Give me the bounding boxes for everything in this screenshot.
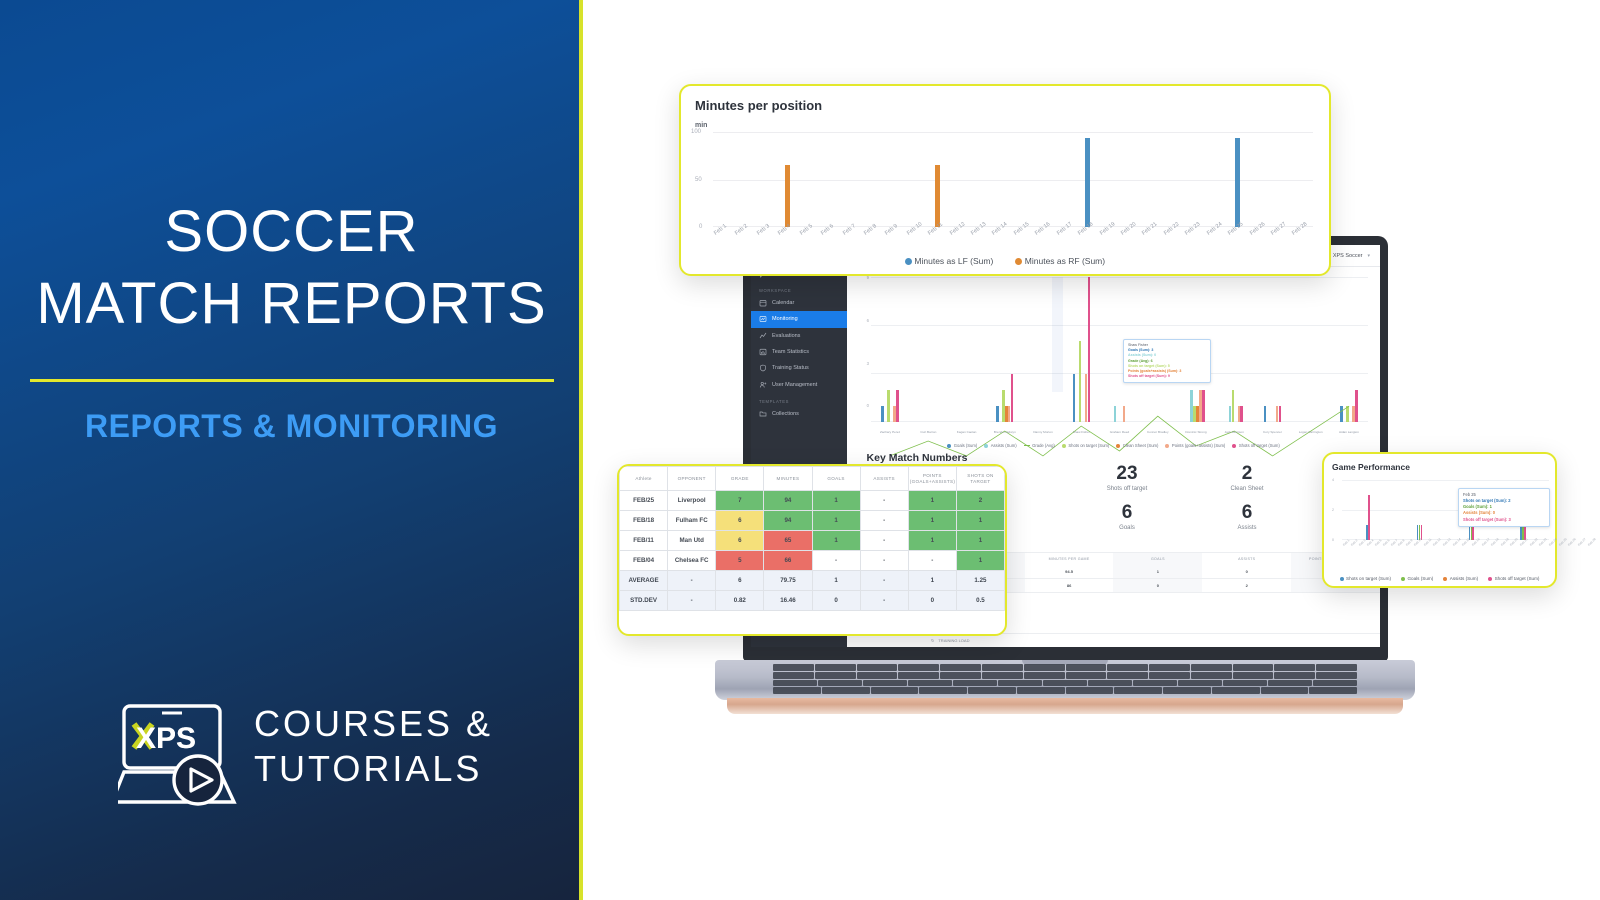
keyboard-key — [998, 680, 1042, 687]
keyboard-key — [1024, 672, 1065, 679]
keyboard-key — [1316, 672, 1357, 679]
player-name-label: Logan Carrington — [1292, 430, 1330, 434]
keyboard-key — [1178, 680, 1222, 687]
laptop-foot — [727, 698, 1403, 714]
player-name-label: Brendon Edwyn — [986, 430, 1024, 434]
minutes-bar — [1085, 138, 1090, 227]
table-cell: 86 — [1025, 579, 1114, 592]
table-cell: 7 — [716, 491, 764, 511]
kpi-label: Shots off target — [1067, 486, 1187, 492]
minutes-bar-group — [1291, 132, 1312, 227]
legend-label: Assists (Sum) — [1450, 576, 1478, 581]
keyboard-key — [1133, 680, 1177, 687]
keyboard-key — [1309, 687, 1357, 694]
kpi-label: Goals — [1067, 525, 1187, 531]
x-tick-label: Feb 24 — [1548, 537, 1558, 547]
kpi-label: Assists — [1187, 525, 1307, 531]
table-cell: AVERAGE — [620, 571, 668, 591]
chart-legend: Goals (Sum)Assists (Sum)Grade (Avg)Shots… — [847, 443, 1380, 448]
keyboard-key — [871, 687, 919, 694]
legend-label: Clean Sheet (Sum) — [1123, 443, 1159, 448]
table-cell: 66 — [764, 551, 812, 571]
keyboard-key — [1107, 664, 1148, 671]
kpi-assists: 6 Assists — [1187, 501, 1307, 531]
gp-bar-group — [1409, 480, 1416, 540]
legend-color-dot — [1024, 445, 1030, 447]
minutes-x-labels: Feb 1Feb 2Feb 3Feb 4Feb 5Feb 6Feb 7Feb 8… — [713, 232, 1313, 238]
keyboard-key — [898, 664, 939, 671]
keyboard-key — [815, 672, 856, 679]
legend-item[interactable]: Points (goals+assists) (Sum) — [1165, 443, 1225, 448]
player-name-label: Danny Morton — [1024, 430, 1062, 434]
legend-color-dot — [1340, 577, 1344, 581]
minutes-bar-group — [1206, 132, 1227, 227]
keyboard-key — [1268, 680, 1312, 687]
keyboard-key — [1191, 672, 1232, 679]
table-cell: - — [860, 531, 908, 551]
legend-label: Points (goals+assists) (Sum) — [1172, 443, 1225, 448]
player-name-label: Aidan Langton — [1330, 430, 1368, 434]
table-cell: FEB/25 — [620, 491, 668, 511]
table-cell: 1 — [812, 571, 860, 591]
table-cell: - — [908, 551, 956, 571]
table-cell: 0 — [1113, 579, 1202, 592]
player-name-label: Dominic Strong — [1177, 430, 1215, 434]
minutes-bar-group — [1249, 132, 1270, 227]
table-cell: - — [860, 591, 908, 611]
laptop-keyboard — [773, 664, 1357, 694]
table-cell: 6 — [716, 511, 764, 531]
kpi-clean-sheet: 2 Clean Sheet — [1187, 462, 1307, 492]
player-name-label: Connor Bradley — [1139, 430, 1177, 434]
table-cell: 65 — [764, 531, 812, 551]
table-row: FEB/11Man Utd6651-11 — [620, 531, 1005, 551]
table-cell: 94.5 — [1025, 565, 1114, 578]
gp-bar-group — [1394, 480, 1401, 540]
minutes-bar-group — [970, 132, 991, 227]
table-cell: 2 — [1202, 579, 1291, 592]
sidebar-item-user-management[interactable]: User Management — [751, 377, 847, 393]
logo-text: COURSES & TUTORIALS — [254, 702, 493, 791]
table-cell: Man Utd — [668, 531, 716, 551]
keyboard-key — [1233, 672, 1274, 679]
player-name-label: Curt Barron — [909, 430, 947, 434]
minutes-bar-group — [777, 132, 798, 227]
keyboard-key — [815, 664, 856, 671]
table-cell: 94 — [764, 491, 812, 511]
card-title: Game Performance — [1332, 462, 1547, 472]
showcase-stage: Teams Messages 3 WORKSPACE — [587, 0, 1600, 900]
keyboard-key — [1114, 687, 1162, 694]
sidebar-label: Team Statistics — [772, 349, 809, 355]
table-cell: - — [860, 491, 908, 511]
gp-bar-group — [1364, 480, 1371, 540]
table-cell: 0.5 — [956, 591, 1004, 611]
keyboard-key — [982, 664, 1023, 671]
minutes-bar-group — [906, 132, 927, 227]
legend-item[interactable]: Shots on target (Sum) — [1340, 576, 1391, 581]
keyboard-key — [982, 672, 1023, 679]
gp-bar-group — [1372, 480, 1379, 540]
keyboard-key — [1163, 687, 1211, 694]
table-cell: Liverpool — [668, 491, 716, 511]
table-cell: 0 — [812, 591, 860, 611]
chart-icon — [759, 348, 767, 356]
gp-bar-group — [1342, 480, 1349, 540]
kpi-row-2: 6 Goals 6 Assists — [1067, 501, 1307, 531]
sidebar-item-training-status[interactable]: Training Status — [751, 360, 847, 376]
gp-bar-group — [1438, 480, 1445, 540]
monitoring-icon — [759, 315, 767, 323]
evaluations-icon — [759, 332, 767, 340]
title-line-2: MATCH REPORTS — [0, 268, 583, 340]
keyboard-key — [1261, 687, 1309, 694]
table-cell: 16.46 — [764, 591, 812, 611]
key-match-numbers-table: AthleteOPPONENTGRADEMINUTESGOALSASSISTSP… — [619, 466, 1005, 611]
legend-color-dot — [1232, 444, 1236, 448]
sidebar-label: Calendar — [772, 300, 794, 306]
keyboard-key — [1043, 680, 1087, 687]
legend-label: Shots on target (Sum) — [1346, 576, 1391, 581]
table-cell: 2 — [956, 491, 1004, 511]
table-row: FEB/25Liverpool7941-12 — [620, 491, 1005, 511]
game-performance-card: Game Performance 4 2 0 Feb 1Feb 2Feb 3Fe… — [1322, 452, 1557, 588]
legend-item[interactable]: Minutes as LF (Sum) — [905, 256, 993, 266]
game-performance-legend: Shots on target (Sum)Goals (Sum)Assists … — [1332, 576, 1547, 581]
legend-item[interactable]: Grade (Avg) — [1024, 443, 1055, 448]
table-row: FEB/04Chelsea FC566---1 — [620, 551, 1005, 571]
shield-icon — [759, 364, 767, 372]
legend-color-dot — [947, 444, 951, 448]
gp-bar-group — [1423, 480, 1430, 540]
table-cell: 1 — [1113, 565, 1202, 578]
minutes-bar-group — [884, 132, 905, 227]
divider-rule — [30, 379, 554, 382]
table-cell: 1.25 — [956, 571, 1004, 591]
minutes-bars — [713, 132, 1313, 227]
table-header-cell: POINTS (GOALS+ASSISTS) — [908, 467, 956, 491]
workspace-name: XPS Soccer — [1333, 253, 1363, 259]
kpi-value: 23 — [1067, 462, 1187, 486]
gp-bar-group — [1386, 480, 1393, 540]
gp-bar-group — [1379, 480, 1386, 540]
sidebar-label: Collections — [772, 411, 799, 417]
player-name-label: Kagan Caolan — [947, 430, 985, 434]
legend-item[interactable]: Shots off target (Sum) — [1488, 576, 1539, 581]
svg-text:XPS: XPS — [136, 722, 196, 755]
legend-color-dot — [1488, 577, 1492, 581]
table-cell: 6 — [716, 571, 764, 591]
title-panel: SOCCER MATCH REPORTS REPORTS & MONITORIN… — [0, 0, 583, 900]
keyboard-key — [1233, 664, 1274, 671]
table-header-cell: ASSISTS — [860, 467, 908, 491]
training-load-label: TRAINING LOAD — [938, 638, 969, 643]
kpi-value: 6 — [1067, 501, 1187, 525]
table-cell: 0 — [908, 591, 956, 611]
keyboard-key — [857, 672, 898, 679]
sidebar-item-team-statistics[interactable]: Team Statistics — [751, 344, 847, 360]
keyboard-key — [1274, 672, 1315, 679]
x-tick-label: Feb 25 — [1558, 537, 1568, 547]
player-name-label: Zachary Perez — [871, 430, 909, 434]
legend-item[interactable]: Shots off target (Sum) — [1232, 443, 1279, 448]
tooltip-row: Shots off target (Sum): 3 — [1463, 517, 1545, 523]
minutes-bar-group — [1077, 132, 1098, 227]
y-axis: 96 30 — [861, 275, 869, 424]
table-cell: 1 — [956, 551, 1004, 571]
gp-bar — [1368, 495, 1370, 540]
y-axis-unit: min — [695, 122, 707, 129]
keyboard-key — [1149, 664, 1190, 671]
legend-color-dot — [1015, 258, 1022, 265]
minutes-bar-group — [1163, 132, 1184, 227]
x-axis-labels: Zachary PerezCurt BarronKagan CaolanBren… — [871, 430, 1368, 434]
keyboard-key — [773, 687, 821, 694]
minutes-bar-group — [1270, 132, 1291, 227]
chart-tooltip: Shaw Fisher Goals (Sum): 3Assists (Sum):… — [1123, 339, 1211, 383]
keyboard-key — [1313, 680, 1357, 687]
table-summary-row: STD.DEV-0.8216.460-00.5 — [620, 591, 1005, 611]
minutes-bar-group — [1013, 132, 1034, 227]
minutes-bar-group — [1099, 132, 1120, 227]
team-performance-chart: 96 30 — [847, 267, 1380, 452]
table-cell: 1 — [956, 511, 1004, 531]
legend-label: Minutes as LF (Sum) — [914, 256, 993, 266]
table-summary-row: AVERAGE-679.751-11.25 — [620, 571, 1005, 591]
table-header-cell: ASSISTS — [1202, 553, 1291, 565]
table-header-cell: GOALS — [812, 467, 860, 491]
keyboard-key — [1088, 680, 1132, 687]
legend-label: Assists (Sum) — [991, 443, 1017, 448]
legend-color-dot — [1443, 577, 1447, 581]
table-header-cell: Athlete — [620, 467, 668, 491]
legend-color-dot — [1401, 577, 1405, 581]
sidebar-item-monitoring[interactable]: Monitoring — [751, 311, 847, 327]
title-line-1: SOCCER — [0, 196, 583, 268]
keyboard-key — [908, 680, 952, 687]
chevron-down-icon[interactable]: ▾ — [1367, 253, 1370, 259]
table-cell: 5 — [716, 551, 764, 571]
sidebar-label: Training Status — [772, 365, 809, 371]
table-cell: 1 — [812, 491, 860, 511]
table-header-cell: MINUTES PER GAME — [1025, 553, 1114, 565]
table-cell: 94 — [764, 511, 812, 531]
keyboard-key — [863, 680, 907, 687]
minutes-plot: 100 50 0 — [713, 132, 1313, 227]
keyboard-key — [1191, 664, 1232, 671]
keyboard-key — [773, 672, 814, 679]
table-cell: - — [668, 591, 716, 611]
legend-item[interactable]: Shots on target (Sum) — [1062, 443, 1109, 448]
keyboard-key — [940, 672, 981, 679]
keyboard-key — [898, 672, 939, 679]
gp-bar-group — [1445, 480, 1452, 540]
calendar-icon — [759, 299, 767, 307]
legend-item[interactable]: Goals (Sum) — [947, 443, 977, 448]
keyboard-key — [968, 687, 1016, 694]
minutes-bar — [1235, 138, 1240, 227]
player-name-label: Jack Morrison — [1215, 430, 1253, 434]
table-cell: 1 — [908, 571, 956, 591]
table-cell: Fulham FC — [668, 511, 716, 531]
minutes-bar-group — [863, 132, 884, 227]
game-performance-tooltip: Feb 25 Shots on target (Sum): 2Goals (Su… — [1458, 488, 1550, 527]
table-cell: Chelsea FC — [668, 551, 716, 571]
minutes-bar-group — [1184, 132, 1205, 227]
table-header-cell: GRADE — [716, 467, 764, 491]
minutes-bar-group — [991, 132, 1012, 227]
legend-item[interactable]: Minutes as RF (Sum) — [1015, 256, 1105, 266]
sidebar-group-templates: TEMPLATES — [751, 393, 847, 406]
tooltip-row: Shots off target (Sum): 9 — [1128, 374, 1206, 379]
legend-item[interactable]: Assists (Sum) — [984, 443, 1016, 448]
keyboard-key — [940, 664, 981, 671]
gp-bar-group — [1357, 480, 1364, 540]
minutes-bar-group — [1034, 132, 1055, 227]
minutes-bar-group — [820, 132, 841, 227]
minutes-bar-group — [927, 132, 948, 227]
user-add-icon — [759, 381, 767, 389]
table-cell: 1 — [812, 531, 860, 551]
minutes-bar-group — [1227, 132, 1248, 227]
table-row: FEB/18Fulham FC6941-11 — [620, 511, 1005, 531]
table-cell: - — [812, 551, 860, 571]
minutes-bar — [785, 165, 790, 227]
table-cell: 1 — [956, 531, 1004, 551]
table-cell: FEB/04 — [620, 551, 668, 571]
player-name-label: Shaw Fisher — [1062, 430, 1100, 434]
keyboard-key — [1149, 672, 1190, 679]
keyboard-key — [1212, 687, 1260, 694]
minutes-per-position-card: Minutes per position min 100 50 0 Feb 1F… — [679, 84, 1331, 276]
kpi-row-1: 23 Shots off target 2 Clean Sheet — [1067, 462, 1307, 492]
sidebar-item-evaluations[interactable]: Evaluations — [751, 328, 847, 344]
legend-label: Goals (Sum) — [954, 443, 978, 448]
legend-label: Grade (Avg) — [1032, 443, 1055, 448]
keyboard-key — [1223, 680, 1267, 687]
keyboard-key — [822, 687, 870, 694]
table-cell: - — [860, 571, 908, 591]
logo-text-line-1: COURSES & — [254, 702, 493, 747]
table-cell: 0 — [1202, 565, 1291, 578]
keyboard-key — [1066, 664, 1107, 671]
legend-item[interactable]: Goals (Sum) — [1401, 576, 1433, 581]
legend-color-dot — [1062, 444, 1066, 448]
kpi-value: 6 — [1187, 501, 1307, 525]
kpi-goals: 6 Goals — [1067, 501, 1187, 531]
table-cell: 1 — [908, 531, 956, 551]
gp-bar-group — [1401, 480, 1408, 540]
keyboard-key — [1107, 672, 1148, 679]
key-match-numbers-card: AthleteOPPONENTGRADEMINUTESGOALSASSISTSP… — [617, 464, 1007, 636]
sidebar-label: Evaluations — [772, 333, 800, 339]
keyboard-key — [919, 687, 967, 694]
table-cell: FEB/11 — [620, 531, 668, 551]
keyboard-key — [1024, 664, 1065, 671]
table-cell: - — [860, 551, 908, 571]
table-cell: 1 — [812, 511, 860, 531]
minutes-bar-group — [1056, 132, 1077, 227]
sidebar-group-workspace: WORKSPACE — [751, 282, 847, 295]
table-header-cell: MINUTES — [764, 467, 812, 491]
gp-bar-group — [1416, 480, 1423, 540]
table-cell: 79.75 — [764, 571, 812, 591]
keyboard-key — [1066, 672, 1107, 679]
folder-icon — [759, 410, 767, 418]
table-cell: 6 — [716, 531, 764, 551]
refresh-icon[interactable]: ↻ — [931, 638, 934, 643]
page-title: SOCCER MATCH REPORTS — [0, 196, 583, 340]
table-cell: - — [860, 511, 908, 531]
legend-label: Shots off target (Sum) — [1495, 576, 1540, 581]
kpi-label: Clean Sheet — [1187, 486, 1307, 492]
keyboard-key — [818, 680, 862, 687]
key-match-numbers-title: Key Match Numbers — [817, 452, 1017, 464]
game-performance-x-labels: Feb 1Feb 2Feb 3Feb 4Feb 5Feb 6Feb 7Feb 8… — [1342, 544, 1549, 548]
x-tick-label: Feb 27 — [1577, 537, 1587, 547]
minutes-bar-group — [713, 132, 734, 227]
player-name-label: Cory Spencer — [1253, 430, 1291, 434]
minutes-bar-group — [756, 132, 777, 227]
kpi-value: 2 — [1187, 462, 1307, 486]
legend-label: Shots off target (Sum) — [1239, 443, 1280, 448]
minutes-bar-group — [949, 132, 970, 227]
card-title: Minutes per position — [695, 98, 1315, 113]
table-cell: 0.82 — [716, 591, 764, 611]
gp-bar-group — [1431, 480, 1438, 540]
legend-color-dot — [1165, 444, 1169, 448]
minutes-bar-group — [1120, 132, 1141, 227]
kpi-shots-off-target: 23 Shots off target — [1067, 462, 1187, 492]
table-header-cell: SHOTS ON TARGET — [956, 467, 1004, 491]
subtitle: REPORTS & MONITORING — [0, 408, 583, 445]
keyboard-key — [773, 680, 817, 687]
sidebar-label: User Management — [772, 382, 817, 388]
table-cell: FEB/18 — [620, 511, 668, 531]
legend-item[interactable]: Clean Sheet (Sum) — [1116, 443, 1158, 448]
table-cell: STD.DEV — [620, 591, 668, 611]
x-tick-label: Feb 26 — [1567, 537, 1577, 547]
laptop-play-icon: XPS XPS — [118, 700, 248, 810]
legend-label: Shots on target (Sum) — [1068, 443, 1109, 448]
sidebar-label: Monitoring — [772, 316, 798, 322]
sidebar-item-calendar[interactable]: Calendar — [751, 295, 847, 311]
chart-plot: Shaw Fisher Goals (Sum): 3Assists (Sum):… — [871, 277, 1368, 422]
logo-text-line-2: TUTORIALS — [254, 747, 493, 792]
legend-color-dot — [905, 258, 912, 265]
minutes-bar-group — [799, 132, 820, 227]
legend-label: Goals (Sum) — [1407, 576, 1433, 581]
minutes-bar-group — [734, 132, 755, 227]
keyboard-key — [1274, 664, 1315, 671]
legend-item[interactable]: Assists (Sum) — [1443, 576, 1478, 581]
brand-logo: XPS XPS COURSES & TUTORIALS — [118, 700, 538, 810]
minutes-bar — [935, 165, 940, 227]
sidebar-item-collections[interactable]: Collections — [751, 406, 847, 422]
keyboard-key — [1316, 664, 1357, 671]
keyboard-key — [1066, 687, 1114, 694]
minutes-bar-group — [842, 132, 863, 227]
legend-label: Minutes as RF (Sum) — [1025, 256, 1105, 266]
gp-bar-group — [1349, 480, 1356, 540]
player-name-label: Graham Reed — [1100, 430, 1138, 434]
minutes-legend: Minutes as LF (Sum)Minutes as RF (Sum) — [681, 256, 1329, 266]
table-cell: 1 — [908, 491, 956, 511]
table-header-cell: GOALS — [1113, 553, 1202, 565]
keyboard-key — [773, 664, 814, 671]
table-header-cell: OPPONENT — [668, 467, 716, 491]
kpi-block: 23 Shots off target 2 Clean Sheet 6 Goal… — [1067, 462, 1307, 531]
